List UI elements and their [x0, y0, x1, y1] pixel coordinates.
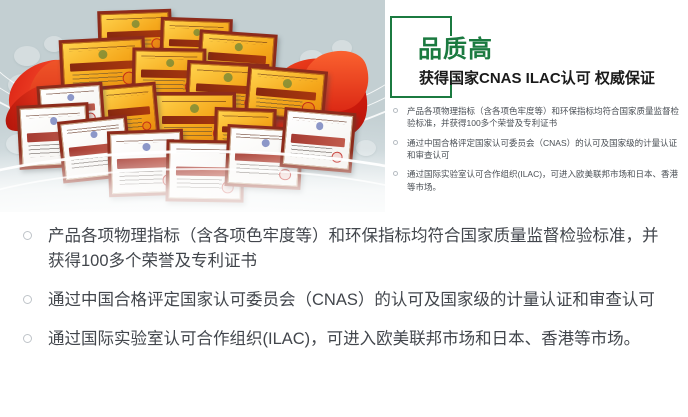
- bullet-circle-icon: [393, 108, 398, 113]
- quality-badge-panel: 品质高 获得国家CNAS ILAC认可 权威保证 产品各项物理指标（含各项色牢度…: [385, 0, 688, 212]
- badge-title: 品质高: [418, 38, 493, 62]
- list-item: 通过中国合格评定国家认可委员会（CNAS）的认可及国家级的计量认证和审查认可: [391, 137, 683, 162]
- list-item-text: 通过国际实验室认可合作组织(ILAC)，可进入欧美联邦市场和日本、香港等市场。: [48, 330, 640, 348]
- list-item-text: 通过中国合格评定国家认可委员会（CNAS）的认可及国家级的计量认证和审查认可: [407, 138, 677, 160]
- list-item-text: 通过国际实验室认可合作组织(ILAC)，可进入欧美联邦市场和日本、香港等市场。: [407, 169, 678, 191]
- list-item-text: 产品各项物理指标（含各项色牢度等）和环保指标均符合国家质量监督检验标准，并获得1…: [48, 227, 659, 270]
- bullet-circle-icon: [23, 231, 32, 240]
- bullet-circle-icon: [23, 295, 32, 304]
- list-item: 产品各项物理指标（含各项色牢度等）和环保指标均符合国家质量监督检验标准，并获得1…: [18, 224, 670, 274]
- certificate-wall-photo: [0, 0, 385, 212]
- stage-floor: [0, 150, 385, 212]
- list-item-text: 通过中国合格评定国家认可委员会（CNAS）的认可及国家级的计量认证和审查认可: [48, 291, 655, 309]
- bullet-circle-icon: [393, 140, 398, 145]
- bullet-circle-icon: [393, 171, 398, 176]
- list-item-text: 产品各项物理指标（含各项色牢度等）和环保指标均符合国家质量监督检验标准，并获得1…: [407, 106, 679, 128]
- list-item: 通过国际实验室认可合作组织(ILAC)，可进入欧美联邦市场和日本、香港等市场。: [391, 168, 683, 193]
- feature-bullet-list: 产品各项物理指标（含各项色牢度等）和环保指标均符合国家质量监督检验标准，并获得1…: [0, 214, 688, 417]
- badge-subtitle: 获得国家CNAS ILAC认可 权威保证: [419, 71, 655, 88]
- hero-banner: 品质高 获得国家CNAS ILAC认可 权威保证 产品各项物理指标（含各项色牢度…: [0, 0, 688, 212]
- list-item: 通过国际实验室认可合作组织(ILAC)，可进入欧美联邦市场和日本、香港等市场。: [18, 327, 670, 352]
- list-item: 通过中国合格评定国家认可委员会（CNAS）的认可及国家级的计量认证和审查认可: [18, 288, 670, 313]
- bullet-circle-icon: [23, 334, 32, 343]
- panel-bullet-list: 产品各项物理指标（含各项色牢度等）和环保指标均符合国家质量监督检验标准，并获得1…: [391, 105, 683, 200]
- list-item: 产品各项物理指标（含各项色牢度等）和环保指标均符合国家质量监督检验标准，并获得1…: [391, 105, 683, 130]
